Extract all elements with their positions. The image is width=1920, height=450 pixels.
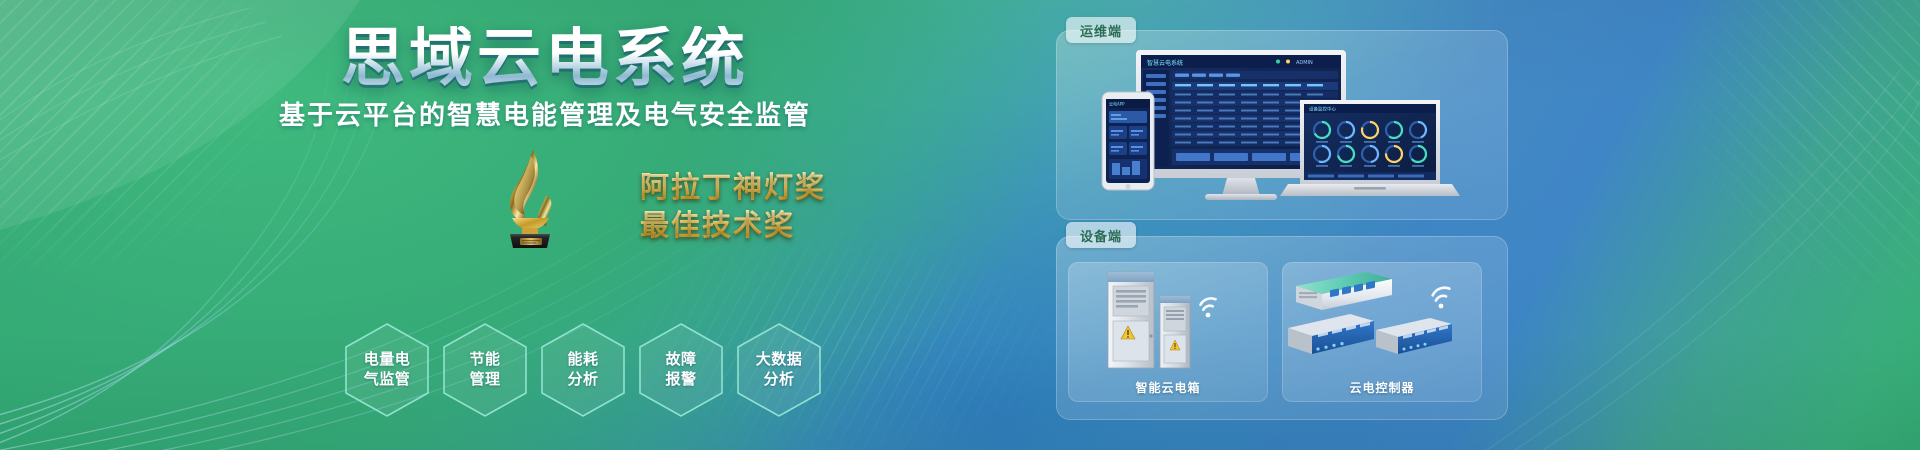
award-item-2: 最佳技术奖	[640, 208, 826, 246]
feature-badge-label: 能耗 分析	[567, 350, 598, 390]
feature-badge[interactable]: 电量电 气监管	[344, 322, 430, 418]
svg-text:智慧云电系统: 智慧云电系统	[1147, 59, 1183, 67]
device-caption: 云电控制器	[1349, 379, 1414, 396]
wifi-signal-icon	[1199, 296, 1215, 309]
electrical-cabinet-icon	[1068, 266, 1268, 374]
feature-badge[interactable]: 能耗 分析	[540, 322, 626, 418]
panel-devices: 设备端	[1056, 236, 1508, 420]
award-item-1: 阿拉丁神灯奖	[640, 170, 826, 208]
panel-tag-operations: 运维端	[1066, 17, 1136, 43]
controller-module-icon	[1282, 266, 1482, 374]
feature-badge-label: 电量电 气监管	[364, 350, 411, 390]
panel-operations: 运维端	[1056, 30, 1508, 220]
banner-root: 思域云电系统 思域云电系统 基于云平台的智慧电能管理及电气安全监管	[0, 0, 1920, 450]
svg-text:云电APP: 云电APP	[1109, 101, 1125, 107]
device-card-list: 智能云电箱	[1068, 262, 1482, 402]
trophy-icon	[470, 148, 590, 248]
svg-text:设备监控中心: 设备监控中心	[1309, 106, 1336, 113]
device-card[interactable]: 云电控制器	[1282, 262, 1482, 402]
awards-list: 阿拉丁神灯奖 最佳技术奖	[640, 170, 826, 245]
svg-text:ADMIN: ADMIN	[1296, 60, 1313, 66]
device-card[interactable]: 智能云电箱	[1068, 262, 1268, 402]
feature-badge[interactable]: 节能 管理	[442, 322, 528, 418]
feature-badge-label: 大数据 分析	[756, 350, 803, 390]
laptop-icon: 设备监控中心	[1280, 100, 1460, 196]
page-subtitle: 基于云平台的智慧电能管理及电气安全监管	[0, 95, 1040, 132]
device-caption: 智能云电箱	[1135, 379, 1200, 396]
panel-tag-devices: 设备端	[1066, 222, 1136, 248]
right-panels-column: 运维端	[1040, 0, 1920, 450]
feature-badge-label: 节能 管理	[469, 350, 500, 390]
feature-badge[interactable]: 大数据 分析	[736, 322, 822, 418]
left-content-column: 思域云电系统 思域云电系统 基于云平台的智慧电能管理及电气安全监管	[0, 0, 1040, 450]
feature-badge-list: 电量电 气监管 节能 管理 能耗 分析 故障 报警	[344, 322, 822, 418]
smartphone-icon: 云电APP	[1102, 92, 1154, 190]
feature-badge-label: 故障 报警	[665, 350, 696, 390]
page-title: 思域云电系统	[0, 26, 1040, 90]
operations-devices-illustration: 智慧云电系统 ADMIN	[1064, 44, 1500, 212]
wifi-signal-icon	[1431, 285, 1449, 300]
feature-badge[interactable]: 故障 报警	[638, 322, 724, 418]
